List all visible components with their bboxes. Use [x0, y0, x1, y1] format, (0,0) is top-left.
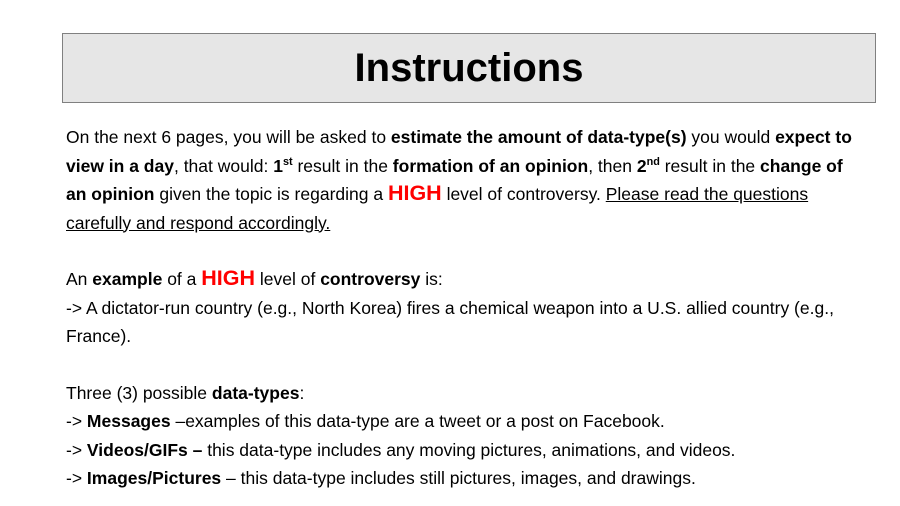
list-item-label: Messages	[87, 411, 171, 431]
p1-seg1: On the next 6 pages, you will be asked t…	[66, 127, 391, 147]
paragraph-gap-2	[66, 351, 866, 379]
slide-root: { "slide": { "title": "Instructions", "a…	[0, 0, 900, 506]
p1-ordinal-second-suffix: nd	[647, 156, 660, 168]
title-banner: Instructions	[62, 33, 876, 103]
list-item-arrow: ->	[66, 440, 87, 460]
p1-ordinal-second-num: 2	[637, 156, 647, 176]
instructions-paragraph: On the next 6 pages, you will be asked t…	[66, 123, 866, 237]
p2-seg7: is:	[420, 269, 442, 289]
list-item-label: Images/Pictures	[87, 468, 221, 488]
p1-ordinal-first-num: 1	[273, 156, 283, 176]
p1-ordinal-first-suffix: st	[283, 156, 293, 168]
p1-ordinal-first: 1st	[273, 156, 292, 176]
p3-heading-suffix: :	[299, 383, 304, 403]
p2-bold-controversy: controversy	[320, 269, 420, 289]
p1-seg5: , that would:	[174, 156, 273, 176]
p1-seg13: given the topic is regarding a	[154, 184, 387, 204]
list-item-description: – this data-type includes still pictures…	[221, 468, 696, 488]
list-item-description: this data-type includes any moving pictu…	[202, 440, 735, 460]
p1-seg9: , then	[588, 156, 637, 176]
p1-high-emphasis: HIGH	[388, 181, 442, 205]
p1-ordinal-second: 2nd	[637, 156, 660, 176]
example-intro-line: An example of a HIGH level of controvers…	[66, 265, 866, 294]
p1-seg15: level of controversy.	[442, 184, 606, 204]
p2-seg5: level of	[255, 269, 320, 289]
p2-seg1: An	[66, 269, 92, 289]
list-item: -> Messages –examples of this data-type …	[66, 407, 866, 436]
list-item-arrow: ->	[66, 411, 87, 431]
p1-seg11: result in the	[660, 156, 760, 176]
p3-heading-prefix: Three (3) possible	[66, 383, 212, 403]
list-item-description: –examples of this data-type are a tweet …	[171, 411, 665, 431]
p1-seg3: you would	[687, 127, 776, 147]
page-title: Instructions	[355, 48, 584, 88]
list-item-label: Videos/GIFs –	[87, 440, 202, 460]
paragraph-gap-1	[66, 237, 866, 265]
p2-bold-example: example	[92, 269, 162, 289]
p2-seg3: of a	[162, 269, 201, 289]
p1-bold-estimate: estimate the amount of data-type(s)	[391, 127, 687, 147]
body-content: On the next 6 pages, you will be asked t…	[66, 123, 866, 493]
p1-seg7: result in the	[293, 156, 393, 176]
list-item-arrow: ->	[66, 468, 87, 488]
p1-bold-formation: formation of an opinion	[393, 156, 588, 176]
example-detail-line: -> A dictator-run country (e.g., North K…	[66, 294, 866, 351]
p2-high-emphasis: HIGH	[201, 266, 255, 290]
list-item: -> Videos/GIFs – this data-type includes…	[66, 436, 866, 465]
p3-bold-datatypes: data-types	[212, 383, 300, 403]
data-types-heading: Three (3) possible data-types:	[66, 379, 866, 408]
list-item: -> Images/Pictures – this data-type incl…	[66, 464, 866, 493]
